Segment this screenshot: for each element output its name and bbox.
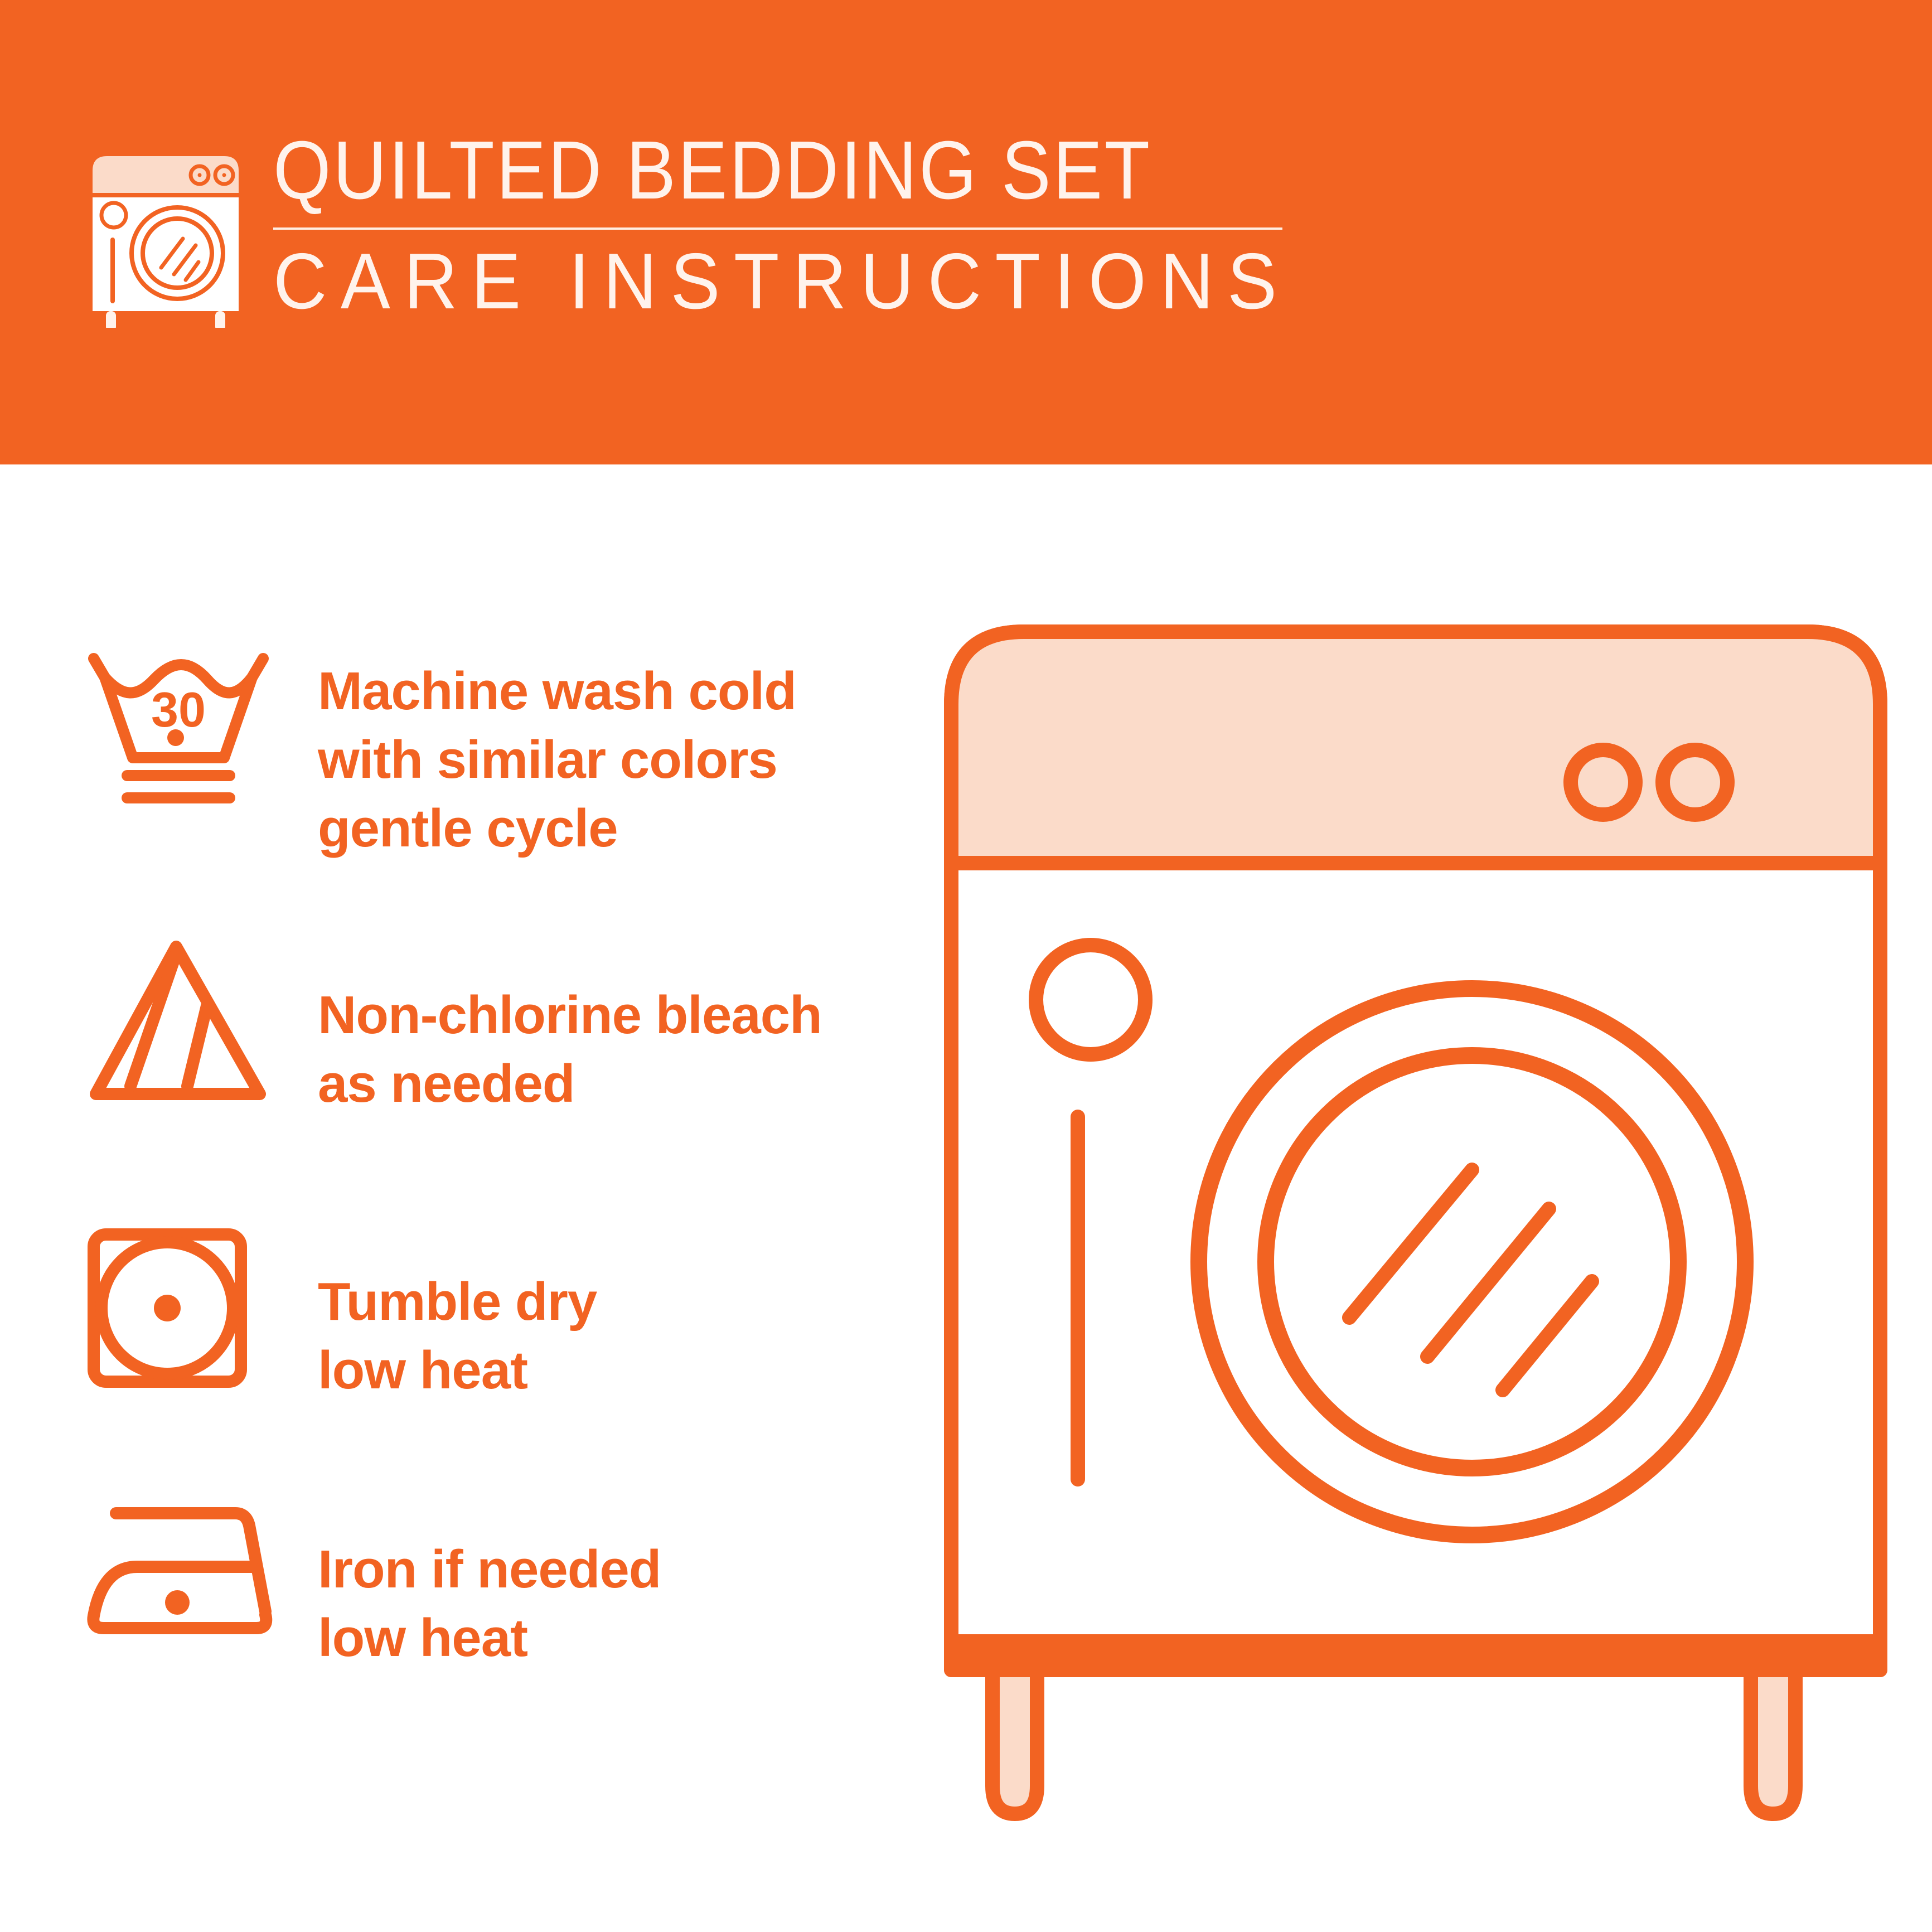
care-row-machine-wash: 30 Machine wash cold with similar colors… — [84, 648, 948, 863]
page-title: QUILTED BEDDING SET — [273, 129, 1247, 212]
header-content: QUILTED BEDDING SET CARE INSTRUCTIONS — [85, 127, 1355, 328]
title-divider — [273, 227, 1282, 230]
tumble-dry-low-heat-icon — [84, 1224, 307, 1392]
page-subtitle: CARE INSTRUCTIONS — [273, 242, 1291, 321]
care-row-bleach: Non-chlorine bleach as needed — [84, 931, 948, 1118]
page-body: 30 Machine wash cold with similar colors… — [0, 464, 1932, 1932]
care-label-machine-wash: Machine wash cold with similar colors ge… — [307, 648, 796, 863]
header-title-block: QUILTED BEDDING SET CARE INSTRUCTIONS — [273, 127, 1355, 321]
iron-low-heat-icon — [84, 1500, 307, 1645]
care-row-tumble-dry: Tumble dry low heat — [84, 1224, 948, 1405]
wash-basin-30-gentle-icon: 30 — [84, 648, 307, 810]
wash-temperature-value: 30 — [151, 682, 206, 737]
care-label-bleach: Non-chlorine bleach as needed — [307, 931, 822, 1118]
non-chlorine-bleach-triangle-icon — [84, 931, 307, 1110]
page-header: QUILTED BEDDING SET CARE INSTRUCTIONS — [0, 0, 1932, 464]
care-instructions-page: QUILTED BEDDING SET CARE INSTRUCTIONS — [0, 0, 1932, 1932]
care-label-tumble-dry: Tumble dry low heat — [307, 1224, 597, 1405]
care-row-iron: Iron if needed low heat — [84, 1500, 948, 1673]
front-load-washing-machine-illustration — [937, 609, 1896, 1864]
washing-machine-icon — [85, 144, 246, 328]
care-label-iron: Iron if needed low heat — [307, 1500, 661, 1673]
